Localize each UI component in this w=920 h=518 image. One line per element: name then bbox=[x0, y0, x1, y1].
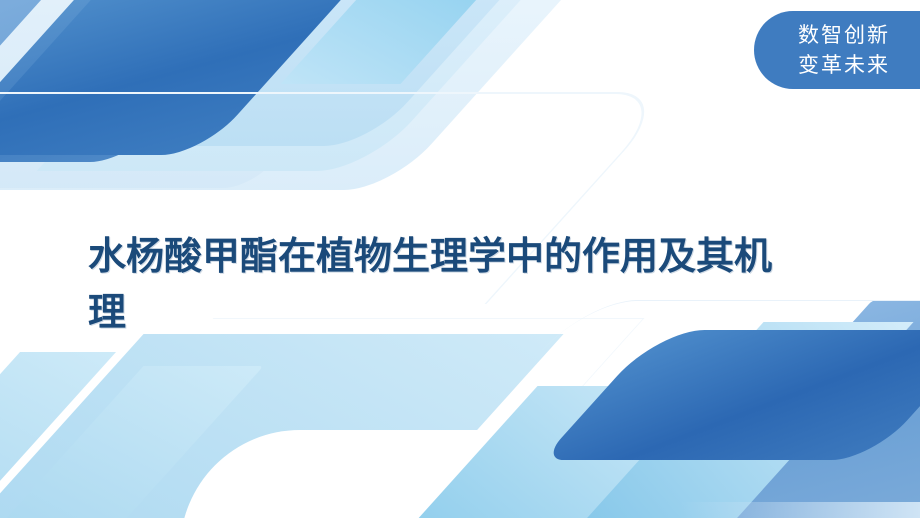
decoration-top-left-light-shard bbox=[280, 0, 499, 84]
decoration-top-left-dark-band bbox=[0, 0, 359, 155]
decoration-top-left-tint-a bbox=[0, 0, 570, 190]
decoration-top-left-main-slab bbox=[0, 0, 378, 188]
decoration-bottom-right-dark-slab bbox=[541, 330, 920, 460]
decoration-bottom-left-curve-band bbox=[0, 334, 564, 518]
decoration-top-left-dark-band-outer bbox=[0, 0, 292, 162]
brand-badge-line-1: 数智创新 bbox=[798, 20, 890, 50]
decoration-bottom-right-light-tail bbox=[402, 386, 707, 518]
decoration-bottom-left-curve-mask bbox=[180, 430, 740, 518]
page-title: 水杨酸甲酯在植物生理学中的作用及其机理 bbox=[88, 228, 808, 340]
decoration-bottom-right-light-band bbox=[556, 322, 913, 518]
decoration-top-left-tint-c bbox=[138, 0, 512, 146]
decoration-bottom-left-stripe-1 bbox=[0, 352, 116, 518]
decoration-top-left-tint-b bbox=[37, 0, 534, 171]
brand-badge-line-2: 变革未来 bbox=[798, 50, 890, 80]
brand-badge: 数智创新 变革未来 bbox=[754, 11, 920, 89]
decoration-bottom-left-stripe-2 bbox=[0, 366, 264, 518]
slide-canvas: 数智创新 变革未来 水杨酸甲酯在植物生理学中的作用及其机理 bbox=[0, 0, 920, 518]
decoration-bottom-right-edge-fade bbox=[680, 502, 920, 518]
